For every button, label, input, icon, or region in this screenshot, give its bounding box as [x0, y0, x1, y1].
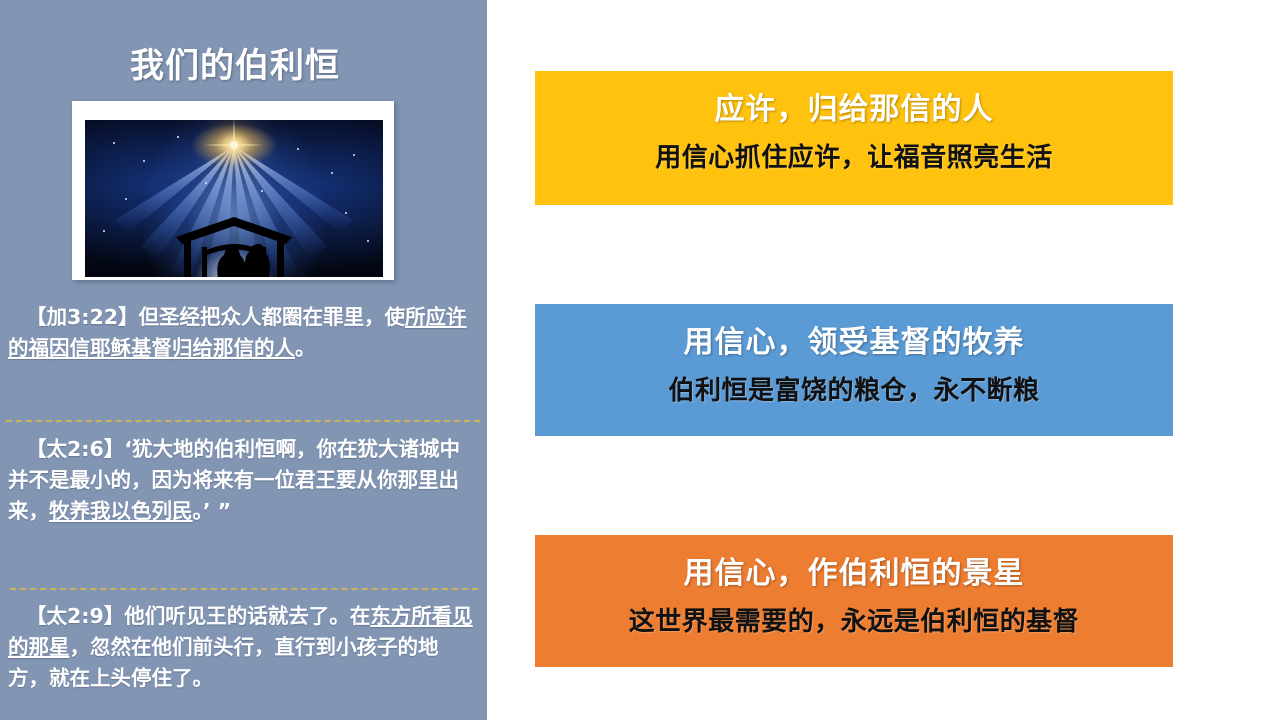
point-box-shepherd[interactable]: 用信心，领受基督的牧养 伯利恒是富饶的粮仓，永不断粮 — [535, 304, 1173, 436]
divider-2 — [10, 588, 478, 590]
point-box-star[interactable]: 用信心，作伯利恒的景星 这世界最需要的，永远是伯利恒的基督 — [535, 535, 1173, 667]
star-speck — [261, 190, 263, 192]
star-speck — [205, 182, 207, 184]
point-subheading: 伯利恒是富饶的粮仓，永不断粮 — [535, 368, 1173, 414]
point-subheading: 这世界最需要的，永远是伯利恒的基督 — [535, 599, 1173, 645]
scripture-matthew-2-6: 【太2:6】‘犹大地的伯利恒啊，你在犹大诸城中并不是最小的，因为将来有一位君王要… — [0, 434, 487, 527]
point-heading: 应许，归给那信的人 — [535, 85, 1173, 135]
star-speck — [297, 148, 299, 150]
star-speck — [353, 154, 355, 156]
page-title: 我们的伯利恒 — [0, 38, 470, 87]
scripture-matthew-2-9: 【太2:9】他们听见王的话就去了。在东方所看见的那星，忽然在他们前头行，直行到小… — [0, 601, 487, 694]
star-speck — [345, 212, 347, 214]
star-speck — [143, 160, 145, 162]
point-heading: 用信心，作伯利恒的景星 — [535, 549, 1173, 599]
star-speck — [367, 240, 369, 242]
point-heading: 用信心，领受基督的牧养 — [535, 318, 1173, 368]
left-panel: 我们的伯利恒 — [0, 0, 487, 720]
star-speck — [177, 136, 179, 138]
scripture-galatians-3-22: 【加3:22】但圣经把众人都圈在罪里，使所应许的福因信耶稣基督归给那信的人。 — [0, 302, 487, 364]
star-speck — [331, 172, 333, 174]
right-panel: 应许，归给那信的人 用信心抓住应许，让福音照亮生活 用信心，领受基督的牧养 伯利… — [487, 0, 1280, 720]
nativity-star-image — [85, 120, 383, 277]
star-speck — [113, 142, 115, 144]
star-speck — [103, 230, 105, 232]
divider-1 — [6, 420, 480, 422]
scripture-ref: 【太2:6】 — [26, 437, 124, 461]
scripture-ref: 【太2:9】 — [26, 604, 124, 628]
star-speck — [125, 198, 127, 200]
picture-frame — [72, 101, 394, 280]
point-box-promise[interactable]: 应许，归给那信的人 用信心抓住应许，让福音照亮生活 — [535, 71, 1173, 205]
point-subheading: 用信心抓住应许，让福音照亮生活 — [535, 135, 1173, 181]
stable-silhouette — [174, 217, 294, 277]
scripture-ref: 【加3:22】 — [26, 305, 139, 329]
